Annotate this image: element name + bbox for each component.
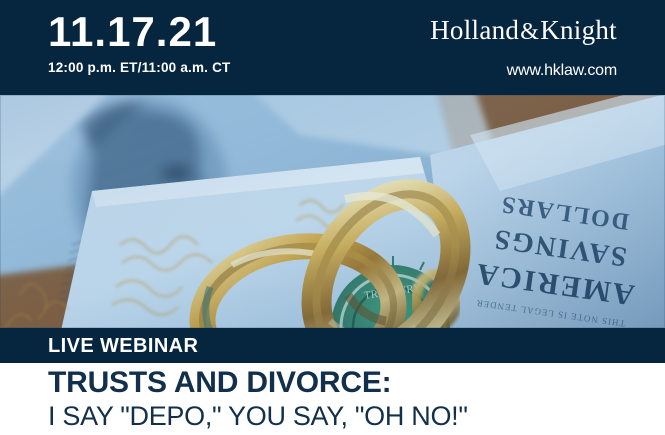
event-datetime-group: 11.17.21 12:00 p.m. ET/11:00 a.m. CT xyxy=(48,8,230,77)
webinar-subtitle: I SAY "DEPO," YOU SAY, "OH NO!" xyxy=(48,401,648,432)
firm-website-link[interactable]: www.hklaw.com xyxy=(430,61,617,81)
event-date: 11.17.21 xyxy=(48,8,230,56)
live-webinar-badge-bar: LIVE WEBINAR xyxy=(0,328,665,363)
firm-name-last: Knight xyxy=(540,15,617,45)
firm-name-first: Holland xyxy=(430,15,519,45)
banner-header: 11.17.21 12:00 p.m. ET/11:00 a.m. CT Hol… xyxy=(0,0,665,95)
event-time: 12:00 p.m. ET/11:00 a.m. CT xyxy=(48,59,230,77)
webinar-promo-banner: 11.17.21 12:00 p.m. ET/11:00 a.m. CT Hol… xyxy=(0,0,665,435)
firm-logo-wordmark: Holland&Knight xyxy=(430,14,617,48)
hero-photo: TREASURY AMERICA SAVINGS DOLLARS xyxy=(0,95,665,328)
ampersand-glyph: & xyxy=(519,19,540,45)
webinar-title: TRUSTS AND DIVORCE: xyxy=(48,366,648,399)
live-webinar-label: LIVE WEBINAR xyxy=(48,334,198,358)
webinar-title-block: TRUSTS AND DIVORCE: I SAY "DEPO," YOU SA… xyxy=(48,366,648,432)
firm-branding-group: Holland&Knight www.hklaw.com xyxy=(430,14,617,81)
hero-photo-illustration: TREASURY AMERICA SAVINGS DOLLARS xyxy=(0,95,665,328)
